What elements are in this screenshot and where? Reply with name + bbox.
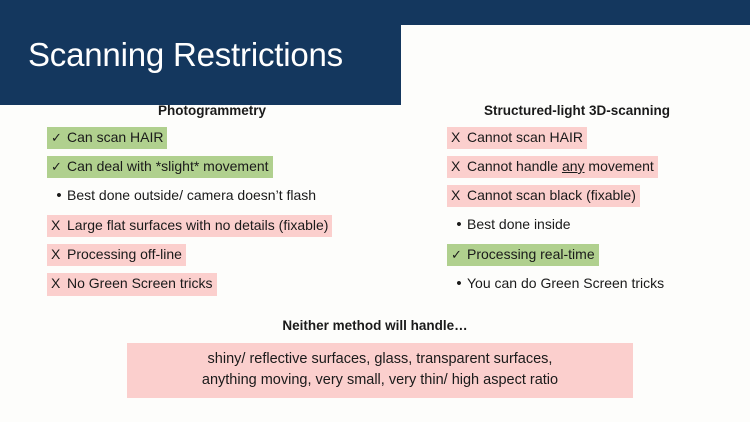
column-structured-light: Structured-light 3D-scanning XCannot sca… [408, 103, 746, 304]
list-item-label: Cannot scan HAIR [467, 129, 583, 146]
x-mark-icon: X [451, 187, 467, 204]
bullet-dot-icon: • [451, 216, 467, 234]
list-item: XCannot scan HAIR [447, 127, 587, 149]
check-mark-icon: ✓ [451, 247, 467, 263]
list-item-label: Best done inside [467, 216, 571, 233]
list-structured-light: XCannot scan HAIRXCannot handle any move… [447, 127, 746, 297]
list-item: XCannot handle any movement [447, 156, 658, 178]
x-mark-icon: X [51, 275, 67, 292]
x-mark-icon: X [51, 246, 67, 263]
column-photogrammetry: Photogrammetry ✓Can scan HAIR✓Can deal w… [22, 103, 402, 303]
list-item: ✓Can scan HAIR [47, 127, 167, 149]
x-mark-icon: X [451, 158, 467, 175]
list-item-label: Can scan HAIR [67, 129, 163, 146]
list-item: XCannot scan black (fixable) [447, 185, 640, 207]
x-mark-icon: X [51, 217, 67, 234]
footer-line: shiny/ reflective surfaces, glass, trans… [127, 349, 633, 370]
list-item-label: Can deal with *slight* movement [67, 158, 269, 175]
footer-line: anything moving, very small, very thin/ … [127, 370, 633, 391]
bullet-dot-icon: • [51, 187, 67, 205]
column-heading-right: Structured-light 3D-scanning [408, 103, 746, 120]
list-item: •Best done inside [447, 214, 575, 237]
list-item-label: Cannot scan black (fixable) [467, 187, 636, 204]
list-item-label: You can do Green Screen tricks [467, 275, 664, 292]
list-item-label: Processing real-time [467, 246, 595, 263]
list-item: •Best done outside/ camera doesn’t flash [47, 185, 320, 208]
list-item: XProcessing off-line [47, 244, 186, 266]
list-item-label: Cannot handle any movement [467, 158, 654, 175]
list-item: ✓Can deal with *slight* movement [47, 156, 273, 178]
page-title: Scanning Restrictions [28, 38, 343, 71]
list-item-label: Large flat surfaces with no details (fix… [67, 217, 328, 234]
footer-heading: Neither method will handle… [0, 318, 750, 335]
list-item-label: Processing off-line [67, 246, 182, 263]
check-mark-icon: ✓ [51, 159, 67, 175]
list-item-label: Best done outside/ camera doesn’t flash [67, 187, 316, 204]
slide-canvas: Scanning Restrictions Photogrammetry ✓Ca… [0, 0, 750, 422]
footer-callout-box: shiny/ reflective surfaces, glass, trans… [127, 343, 633, 398]
list-item: •You can do Green Screen tricks [447, 273, 668, 296]
footer-section: Neither method will handle… shiny/ refle… [0, 318, 750, 341]
check-mark-icon: ✓ [51, 130, 67, 146]
list-item-label: No Green Screen tricks [67, 275, 213, 292]
list-item: XLarge flat surfaces with no details (fi… [47, 215, 332, 237]
list-item: XNo Green Screen tricks [47, 273, 217, 295]
bullet-dot-icon: • [451, 275, 467, 293]
list-photogrammetry: ✓Can scan HAIR✓Can deal with *slight* mo… [47, 127, 402, 296]
column-heading-left: Photogrammetry [22, 103, 402, 120]
list-item: ✓Processing real-time [447, 244, 599, 266]
x-mark-icon: X [451, 129, 467, 146]
